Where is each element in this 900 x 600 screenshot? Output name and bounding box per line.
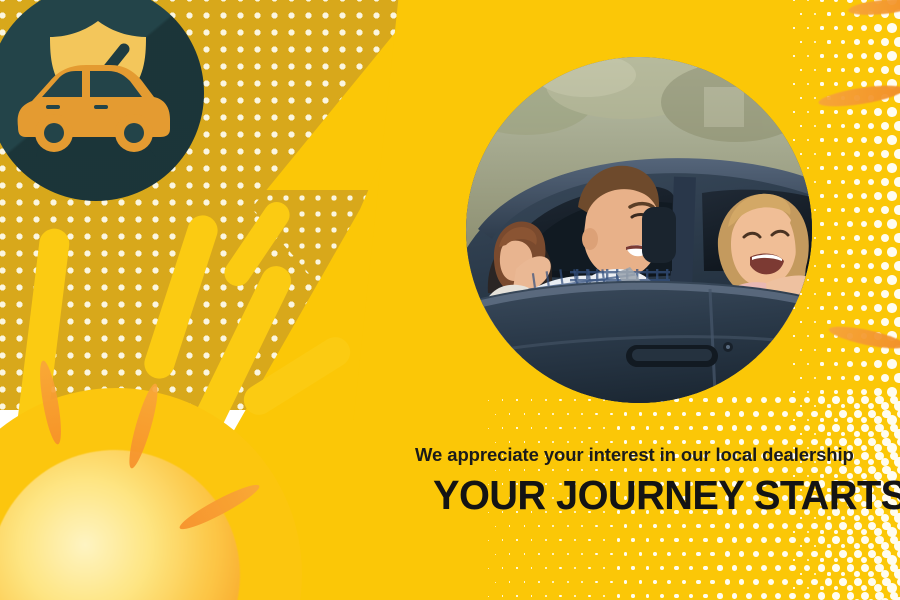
halftone-dot [861,277,868,284]
halftone-dot [887,247,897,257]
family-in-car-photo [466,57,812,403]
halftone-dot [854,179,860,185]
halftone-dot [834,82,838,86]
halftone-dot [682,412,686,416]
halftone-dot [820,26,823,29]
halftone-dot [814,181,816,183]
halftone-dot [827,152,830,155]
halftone-dot [868,291,875,298]
halftone-dot [814,377,816,379]
halftone-dot [807,55,809,57]
halftone-dot [807,83,809,85]
halftone-dot [868,403,875,410]
halftone-dot [834,110,838,114]
halftone-dot [881,206,889,214]
halftone-dot [887,51,897,61]
halftone-dot [775,397,781,403]
watercolor-sun-graphic [0,330,320,600]
halftone-dot [874,24,882,32]
halftone-dot [834,194,838,198]
halftone-dot [841,320,845,324]
halftone-dot [868,67,875,74]
halftone-dot [881,402,889,410]
halftone-dot [894,373,900,383]
halftone-dot [881,66,889,74]
halftone-dot [874,164,882,172]
halftone-dot [834,138,838,142]
halftone-dot [854,410,862,418]
halftone-dot [827,40,830,43]
auto-protection-badge[interactable] [0,0,204,201]
halftone-dot [861,249,868,256]
halftone-dot [854,319,860,325]
halftone-dot [874,388,882,396]
halftone-dot [861,109,868,116]
halftone-dot [811,411,818,418]
halftone-dot [814,265,816,267]
halftone-dot [710,412,715,417]
halftone-dot [841,348,845,352]
halftone-dot [800,293,801,294]
halftone-dot [874,304,882,312]
halftone-dot [854,207,860,213]
halftone-dot [890,396,899,405]
halftone-dot [820,82,823,85]
halftone-dot [703,398,708,403]
halftone-dot [894,261,900,271]
halftone-dot [818,396,825,403]
halftone-dot [761,397,767,403]
halftone-dot [894,317,900,327]
halftone-dot [800,153,801,154]
halftone-dot [882,410,891,419]
halftone-dot [653,412,657,416]
halftone-dot [820,138,823,141]
halftone-dot [841,152,845,156]
halftone-dot [807,27,809,29]
halftone-dot [814,209,816,211]
halftone-dot [807,335,809,337]
halftone-dot [854,263,860,269]
halftone-dot [887,387,897,397]
halftone-dot [820,166,823,169]
halftone-dot [820,250,823,253]
halftone-dot [847,277,853,283]
halftone-dot [827,236,830,239]
halftone-dot [814,69,816,71]
halftone-dot [820,0,823,2]
halftone-dot [793,139,794,140]
halftone-dot [814,237,816,239]
halftone-dot [827,376,830,379]
copy-block: We appreciate your interest in our local… [415,444,900,517]
halftone-dot [814,41,816,43]
halftone-dot [887,191,897,201]
halftone-dot [868,179,875,186]
halftone-dot [868,347,875,354]
halftone-dot [807,363,809,365]
halftone-dot [868,263,875,270]
halftone-dot [875,396,884,405]
halftone-dot [827,208,830,211]
halftone-dot [820,362,823,365]
halftone-dot [874,52,882,60]
halftone-dot [827,264,830,267]
halftone-dot [839,410,847,418]
halftone-dot [820,110,823,113]
halftone-dot [800,125,801,126]
halftone-dot [854,151,860,157]
halftone-dot [881,262,889,270]
halftone-dot [800,349,801,350]
halftone-dot [800,69,801,70]
halftone-dot [793,111,794,112]
halftone-dot [894,177,900,187]
halftone-dot [887,163,897,173]
halftone-dot [827,68,830,71]
halftone-dot [827,292,830,295]
halftone-dot [841,68,845,72]
halftone-dot [793,83,794,84]
halftone-dot [814,13,816,15]
halftone-dot [874,220,882,228]
halftone-dot [847,249,853,255]
halftone-dot [807,391,809,393]
halftone-dot [894,401,900,411]
halftone-dot [825,410,832,417]
halftone-dot [894,121,900,131]
halftone-dot [696,412,701,417]
halftone-dot [800,41,801,42]
halftone-dot [841,124,845,128]
halftone-dot [861,137,868,144]
halftone-dot [827,320,830,323]
halftone-dot [854,123,860,129]
halftone-dot [847,389,853,395]
halftone-dot [820,222,823,225]
halftone-dot [814,153,816,155]
halftone-dot [807,0,809,1]
halftone-dot [800,97,801,98]
halftone-dot [881,318,889,326]
halftone-dot [807,307,809,309]
halftone-dot [793,27,794,28]
halftone-dot [807,139,809,141]
halftone-dot [887,107,897,117]
halftone-dot [827,12,830,15]
halftone-dot [861,221,868,228]
halftone-dot [834,390,838,394]
halftone-dot [881,38,889,46]
halftone-dot [861,396,869,404]
halftone-dot [847,81,853,87]
halftone-dot [667,412,671,416]
halftone-dot [854,291,860,297]
halftone-dot [868,123,875,130]
halftone-dot [782,411,788,417]
halftone-dot [793,55,794,56]
halftone-dot [854,39,860,45]
halftone-dot [820,334,823,337]
halftone-dot [881,150,889,158]
halftone-dot [861,165,868,172]
halftone-dot [861,305,868,312]
halftone-dot [894,37,900,47]
halftone-dot [834,54,838,58]
halftone-dot [874,360,882,368]
halftone-dot [861,53,868,60]
halftone-dot [834,0,838,2]
halftone-dot [807,167,809,169]
halftone-dot [881,122,889,130]
halftone-dot [847,0,853,3]
halftone-dot [887,135,897,145]
halftone-dot [800,377,801,378]
orange-dash-2 [827,322,900,353]
halftone-dot [841,40,845,44]
halftone-dot [894,233,900,243]
halftone-dot [847,165,853,171]
halftone-dot [746,397,752,403]
badge-icon-group [6,7,186,167]
halftone-dot [874,248,882,256]
halftone-dot [847,305,853,311]
halftone-dot [827,348,830,351]
orange-dash-3 [847,0,900,18]
halftone-dot [800,405,801,406]
halftone-dot [689,398,694,403]
halftone-dot [874,192,882,200]
halftone-dot [793,0,794,1]
halftone-dot [854,67,860,73]
halftone-dot [841,208,845,212]
halftone-dot [807,111,809,113]
halftone-dot [847,361,853,367]
halftone-dot [841,376,845,380]
dealership-banner: We appreciate your interest in our local… [0,0,900,600]
halftone-dot [834,362,838,366]
halftone-dot [841,292,845,296]
halftone-dot [868,151,875,158]
halftone-dot [861,25,868,32]
halftone-dot [814,125,816,127]
halftone-dot [834,166,838,170]
halftone-dot [793,363,794,364]
halftone-dot [881,290,889,298]
halftone-dot [868,410,876,418]
halftone-dot [789,397,796,404]
halftone-dot [874,136,882,144]
halftone-dot [847,25,853,31]
subtitle-text: We appreciate your interest in our local… [415,444,900,466]
halftone-dot [739,411,744,416]
halftone-dot [841,180,845,184]
halftone-dot [827,180,830,183]
orange-dash-1 [817,81,900,110]
halftone-dot [847,137,853,143]
halftone-dot [887,359,897,369]
halftone-dot [868,207,875,214]
halftone-dot [725,411,730,416]
halftone-dot [868,235,875,242]
halftone-dot [847,193,853,199]
halftone-dot [887,219,897,229]
halftone-dot [887,275,897,285]
halftone-dot [804,397,811,404]
halftone-dot [868,375,875,382]
halftone-dot [887,23,897,33]
halftone-dot [732,397,737,402]
halftone-dot [854,235,860,241]
halftone-dot [894,289,900,299]
halftone-dot [894,149,900,159]
halftone-dot [868,39,875,46]
halftone-dot [861,389,868,396]
halftone-dot [861,193,868,200]
halftone-dot [834,26,838,30]
halftone-dot [894,205,900,215]
halftone-dot [847,221,853,227]
halftone-dot [827,124,830,127]
halftone-dot [841,404,845,408]
halftone-dot [834,278,838,282]
halftone-dot [832,396,840,404]
halftone-dot [861,361,868,368]
halftone-dot [827,404,830,407]
halftone-dot [841,264,845,268]
halftone-dot [814,321,816,323]
halftone-dot [854,347,860,353]
halftone-dot [847,109,853,115]
halftone-dot [814,293,816,295]
halftone-dot [807,279,809,281]
halftone-dot [841,236,845,240]
halftone-dot [793,335,794,336]
halftone-dot [834,222,838,226]
halftone-dot [868,319,875,326]
halftone-dot [793,391,794,392]
halftone-dot [768,411,774,417]
halftone-dot [820,390,823,393]
halftone-dot [854,403,860,409]
halftone-dot [753,411,759,417]
halftone-dot [820,278,823,281]
halftone-dot [800,13,801,14]
halftone-dot [796,411,803,418]
halftone-dot [814,349,816,351]
halftone-dot [874,108,882,116]
halftone-dot [820,54,823,57]
halftone-dot [881,178,889,186]
halftone-dot [820,194,823,197]
halftone-dot [841,12,845,16]
halftone-dot [881,234,889,242]
halftone-dot [854,375,860,381]
halftone-dot [834,250,838,254]
halftone-dot [834,306,838,310]
halftone-dot [814,405,816,407]
halftone-dot [814,97,816,99]
halftone-dot [881,374,889,382]
halftone-dot [800,321,801,322]
halftone-dot [874,276,882,284]
headline-text: YOUR JOURNEY STARTS HERE [433,474,900,517]
halftone-dot [894,65,900,75]
halftone-dot [847,396,855,404]
halftone-dot [847,53,853,59]
halftone-dot [820,306,823,309]
halftone-dot [717,397,722,402]
halftone-dot [887,303,897,313]
